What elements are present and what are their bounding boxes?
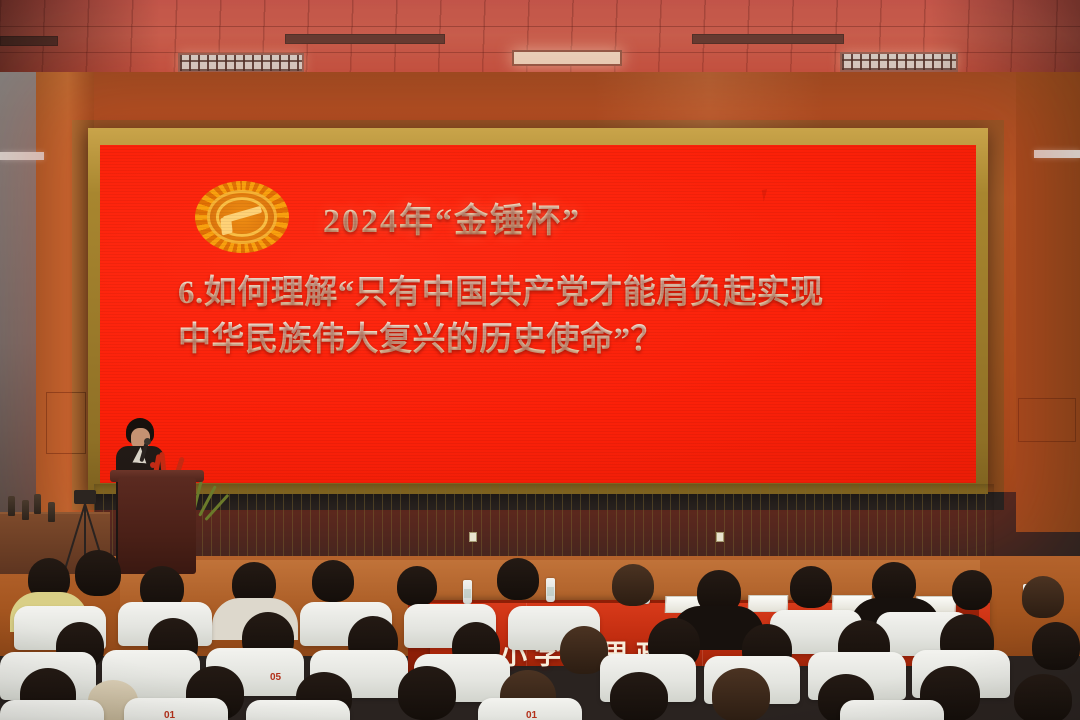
audience-head [952, 570, 992, 610]
audience-head [75, 550, 121, 596]
led-screen: 2024年“金锤杯” 6.如何理解“只有中国共产党才能肩负起实现 中华民族伟大复… [100, 145, 976, 483]
video-camera [74, 490, 96, 504]
water-bottle [22, 500, 29, 520]
slide-body-line-2: 中华民族伟大复兴的历史使命”？ [178, 317, 968, 364]
audience-head [712, 668, 770, 720]
ceiling-shadow-right [930, 0, 1080, 78]
seat-number: 01 [526, 710, 537, 720]
ceiling-seam [0, 26, 1080, 27]
wall-light-strip-left [0, 152, 44, 160]
water-bottle [8, 496, 15, 516]
audience-head [610, 672, 668, 720]
audience-head [397, 566, 437, 606]
ceiling-shadow-left [0, 0, 160, 78]
slide-body-line-1: 6.如何理解“只有中国共产党才能肩负起实现 [178, 270, 968, 317]
audience-head [1022, 576, 1064, 618]
audience-head [612, 564, 654, 606]
wall-panel-outline [1018, 398, 1076, 442]
auditorium-scene: 2024年“金锤杯” 6.如何理解“只有中国共产党才能肩负起实现 中华民族伟大复… [0, 0, 1080, 720]
golden-hammer-sunburst-emblem [195, 181, 289, 253]
audience-seat[interactable] [840, 700, 944, 720]
microphone-head [144, 438, 151, 445]
emblem-hammer-head [221, 215, 233, 235]
left-gray-wall [0, 72, 36, 522]
slide-title-row: 2024年“金锤杯” [195, 181, 581, 253]
ceiling-light-fixture [512, 50, 622, 66]
ceiling-light-fixture [178, 53, 304, 73]
wall-light-strip-right [1034, 150, 1080, 158]
audience-seat[interactable]: 01 [124, 698, 228, 720]
ceiling-vent [285, 34, 445, 44]
right-wood-column [1016, 72, 1080, 532]
audience-seat[interactable] [0, 700, 104, 720]
water-bottle [48, 502, 55, 522]
audience-seat[interactable] [246, 700, 350, 720]
audience-head [398, 666, 456, 720]
audience-head [312, 560, 354, 602]
ceiling-vent [692, 34, 844, 44]
audience-head [790, 566, 832, 608]
audience-area: 排 05 01 01 [0, 540, 1080, 720]
audience-head [1032, 622, 1080, 670]
audience-seat[interactable]: 01 [478, 698, 582, 720]
seat-number: 05 [270, 672, 281, 683]
left-wood-column [36, 72, 94, 522]
ceiling [0, 0, 1080, 78]
water-bottle [34, 494, 41, 514]
slide-title: 2024年“金锤杯” [323, 193, 581, 242]
slide-body: 6.如何理解“只有中国共产党才能肩负起实现 中华民族伟大复兴的历史使命”？ [178, 270, 968, 364]
seat-number: 01 [164, 710, 175, 720]
audience-head [497, 558, 539, 600]
wall-panel-outline [46, 392, 86, 454]
audience-head [1014, 674, 1072, 720]
